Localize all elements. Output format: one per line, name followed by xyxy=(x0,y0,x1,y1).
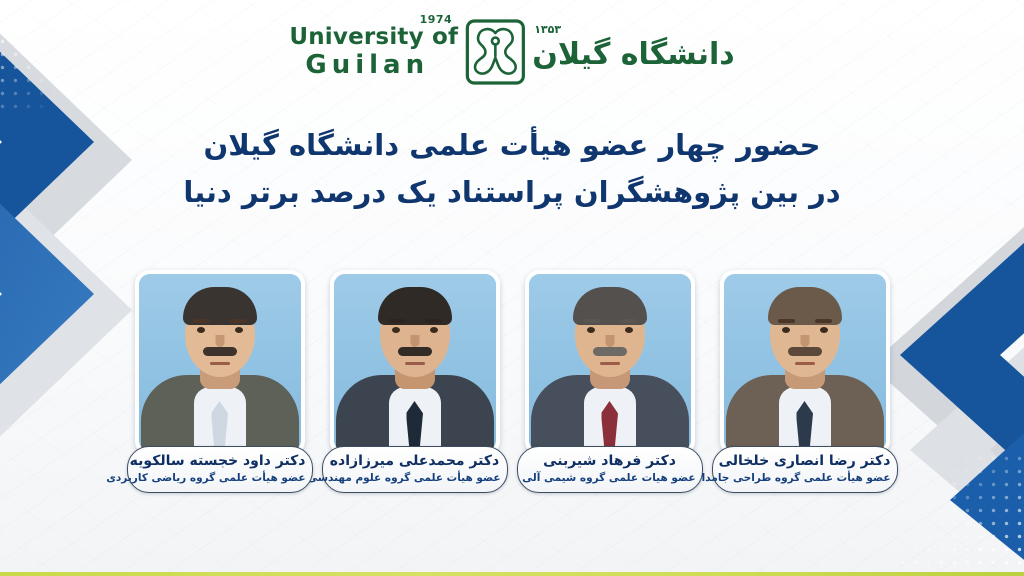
person-name: دکتر فرهاد شیربنی xyxy=(524,453,696,470)
person-card[interactable]: دکتر محمدعلی میرزازاده عضو هیأت علمی گرو… xyxy=(330,270,500,455)
person-role: عضو هیأت علمی گروه ریاضی کاربردی xyxy=(134,472,306,485)
headline-block: حضور چهار عضو هیأت علمی دانشگاه گیلان در… xyxy=(0,122,1024,216)
person-name: دکتر داود خجسته سالکویه xyxy=(134,453,306,470)
person-caption: دکتر رضا انصاری خلخالی عضو هیأت علمی گرو… xyxy=(712,446,898,493)
dot-pattern-top-left xyxy=(0,0,116,114)
headline-line-2: در بین پژوهشگران پراستناد یک درصد برتر د… xyxy=(0,169,1024,216)
person-card[interactable]: دکتر داود خجسته سالکویه عضو هیأت علمی گر… xyxy=(135,270,305,455)
logo-year-persian: ۱۳۵۳ xyxy=(534,23,561,36)
portrait-photo-mohammadali-mirzazadeh xyxy=(334,274,496,451)
guilan-university-emblem-icon xyxy=(464,18,526,86)
person-role: عضو هیأت علمی گروه طراحی جامدات xyxy=(719,472,891,485)
poster-canvas: 1974 University of Guilan ۱۳۵۳ دانشگاه گ… xyxy=(0,0,1024,576)
portrait-photo-farhad-shirbani xyxy=(529,274,691,451)
person-name: دکتر رضا انصاری خلخالی xyxy=(719,453,891,470)
person-card[interactable]: دکتر رضا انصاری خلخالی عضو هیأت علمی گرو… xyxy=(720,270,890,455)
portrait-frame xyxy=(330,270,500,455)
portrait-frame xyxy=(525,270,695,455)
portrait-frame xyxy=(720,270,890,455)
headline-line-1: حضور چهار عضو هیأت علمی دانشگاه گیلان xyxy=(0,122,1024,169)
dot-pattern-bottom-right xyxy=(896,452,1024,572)
person-caption: دکتر فرهاد شیربنی عضو هیات علمی گروه شیم… xyxy=(517,446,703,493)
person-name: دکتر محمدعلی میرزازاده xyxy=(329,453,501,470)
person-caption: دکتر محمدعلی میرزازاده عضو هیأت علمی گرو… xyxy=(322,446,508,493)
logo-persian-text: ۱۳۵۳ دانشگاه گیلان xyxy=(532,33,734,71)
logo-english-text: 1974 University of Guilan xyxy=(289,26,458,78)
person-role: عضو هیأت علمی گروه علوم مهندسی xyxy=(329,472,501,485)
bottom-accent-strip xyxy=(0,572,1024,576)
person-role: عضو هیات علمی گروه شیمی آلی xyxy=(524,472,696,485)
logo-english-line2: Guilan xyxy=(289,52,429,78)
portrait-photo-davod-khojasteh-salkuyeh xyxy=(139,274,301,451)
university-logo: 1974 University of Guilan ۱۳۵۳ دانشگاه گ… xyxy=(289,18,734,86)
logo-english-line1: University of xyxy=(289,26,458,49)
portrait-photo-reza-ansari-khalkhali xyxy=(724,274,886,451)
logo-year-gregorian: 1974 xyxy=(420,14,453,25)
person-card[interactable]: دکتر فرهاد شیربنی عضو هیات علمی گروه شیم… xyxy=(525,270,695,455)
researchers-row: دکتر رضا انصاری خلخالی عضو هیأت علمی گرو… xyxy=(0,270,1024,455)
logo-persian-name: دانشگاه گیلان xyxy=(532,39,734,71)
portrait-frame xyxy=(135,270,305,455)
person-caption: دکتر داود خجسته سالکویه عضو هیأت علمی گر… xyxy=(127,446,313,493)
